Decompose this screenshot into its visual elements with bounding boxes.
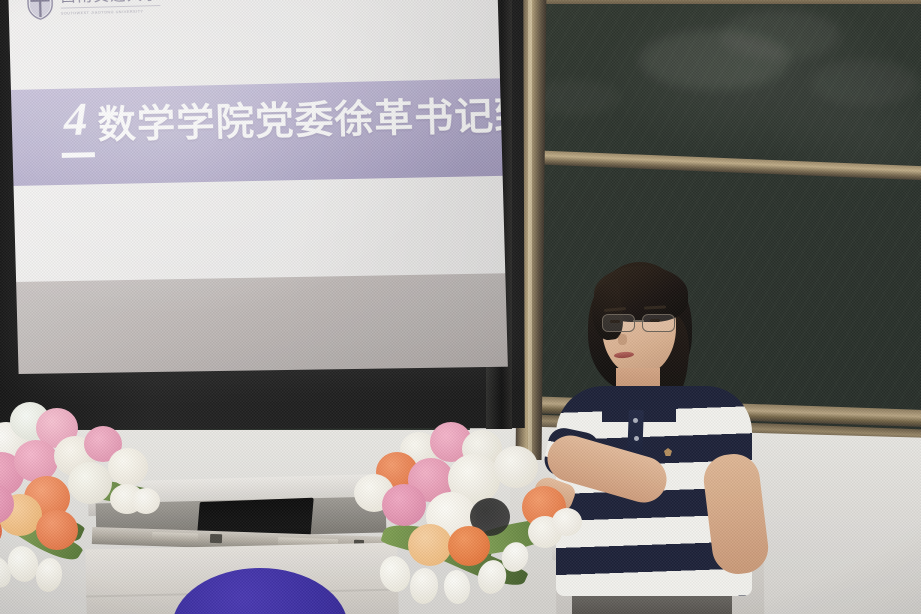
lens-right — [642, 314, 675, 332]
shirt-button — [633, 418, 638, 423]
floral-arrangement-right — [352, 420, 582, 614]
calla-lily — [377, 553, 414, 594]
university-name-en: SOUTHWEST JIAOTONG UNIVERSITY — [61, 9, 161, 16]
shirt-button — [634, 436, 639, 441]
calla-lily — [408, 567, 440, 606]
university-logo: 西南交通大学 SOUTHWEST JIAOTONG UNIVERSITY — [26, 0, 161, 21]
peach-rose — [408, 524, 452, 566]
chalk-smudge — [810, 60, 920, 106]
white-orchid — [132, 488, 160, 514]
slide-section-number: 4 — [63, 98, 88, 145]
orange-rose — [36, 510, 78, 550]
slide-white-strip — [8, 175, 508, 282]
nose — [618, 334, 627, 345]
post-highlight — [528, 0, 532, 460]
slide-title: 数学学院党委徐革书记致辞 — [97, 95, 508, 144]
glasses-bridge — [633, 320, 644, 322]
classroom-photograph: 西南交通大学 SOUTHWEST JIAOTONG UNIVERSITY 4 数… — [0, 0, 921, 614]
lens-left — [602, 314, 635, 332]
swjtu-shield-crest-icon — [26, 0, 54, 21]
chalk-smudge — [720, 10, 840, 60]
white-orchid — [552, 508, 582, 536]
eye-left — [610, 320, 620, 323]
eye-right — [650, 319, 660, 322]
pink-rose — [382, 484, 426, 526]
floral-arrangement-left — [0, 396, 180, 596]
podium-latch — [210, 534, 222, 543]
calla-lily — [442, 569, 471, 606]
logo-divider — [61, 5, 161, 9]
white-lily — [108, 448, 148, 486]
calla-lily — [34, 556, 64, 593]
chalkboard-top-frame — [500, 0, 921, 4]
eyeglasses-icon — [600, 314, 684, 332]
orange-rose — [448, 526, 490, 566]
projected-slide: 西南交通大学 SOUTHWEST JIAOTONG UNIVERSITY 4 数… — [8, 0, 508, 374]
slide-footer-band — [8, 273, 508, 374]
white-lily — [68, 462, 112, 504]
white-lily — [494, 446, 538, 488]
